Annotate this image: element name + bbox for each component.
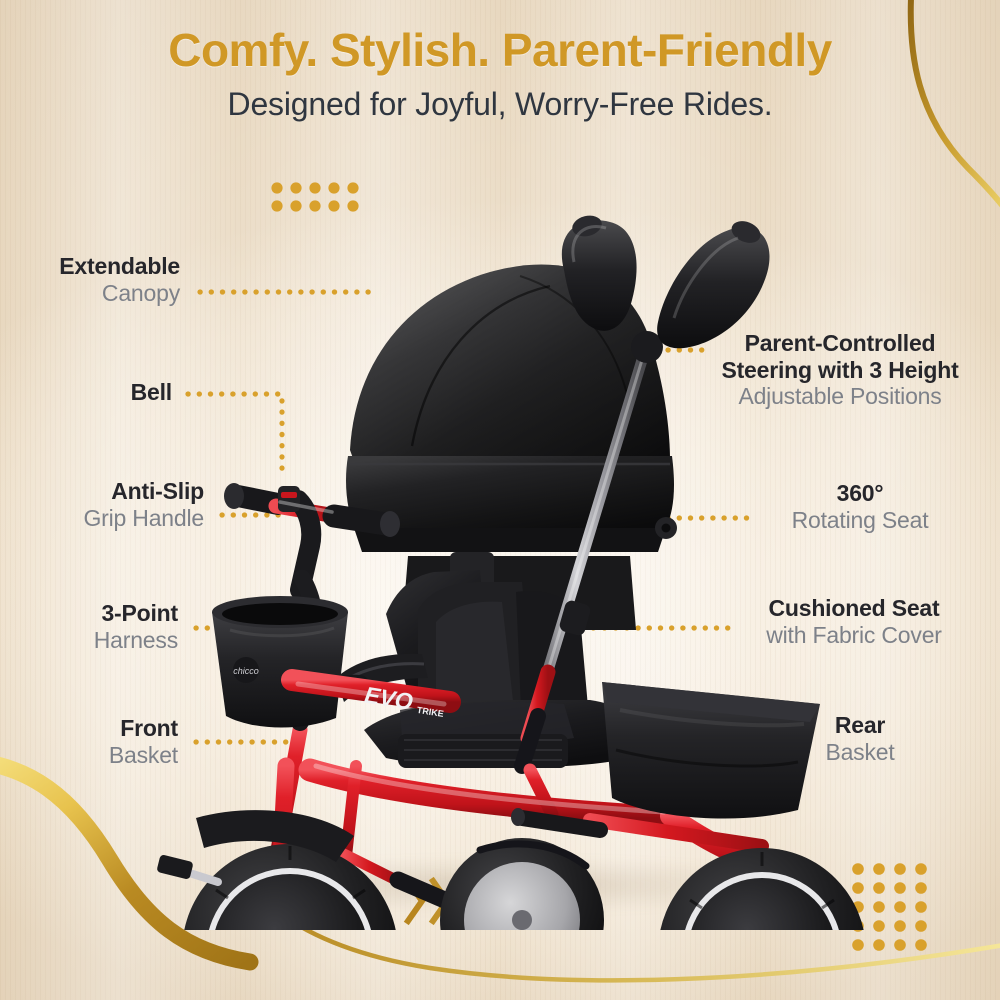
callout-rear-basket-line1: Rear xyxy=(760,712,960,739)
callout-three-point-harness-sub: Harness xyxy=(94,627,178,654)
callout-three-point-harness[interactable]: 3-Point Harness xyxy=(94,600,178,653)
callout-anti-slip-grip-sub: Grip Handle xyxy=(83,505,204,532)
callout-bell-line1: Bell xyxy=(131,379,172,406)
callout-extendable-canopy[interactable]: Extendable Canopy xyxy=(59,253,180,306)
rear-wheel: chicco xyxy=(658,848,866,930)
callout-rear-basket[interactable]: Rear Basket xyxy=(760,712,960,765)
front-basket: chicco xyxy=(212,596,348,728)
callout-extendable-canopy-sub: Canopy xyxy=(59,280,180,307)
seat-assembly xyxy=(336,552,636,768)
callout-anti-slip-grip[interactable]: Anti-Slip Grip Handle xyxy=(83,478,204,531)
product-image-evo-tricycle: chicco EVO TRIKE xyxy=(150,210,870,930)
callout-rear-basket-sub: Basket xyxy=(760,739,960,766)
callout-front-basket[interactable]: Front Basket xyxy=(109,715,178,768)
callout-front-basket-line1: Front xyxy=(109,715,178,742)
svg-text:chicco: chicco xyxy=(233,666,259,676)
callout-parent-steering-line1: Parent-Controlled xyxy=(690,330,990,357)
callout-cushioned-seat[interactable]: Cushioned Seat with Fabric Cover xyxy=(720,595,988,648)
callout-parent-steering[interactable]: Parent-Controlled Steering with 3 Height… xyxy=(690,330,990,410)
middle-wheel xyxy=(440,838,604,930)
page-title: Comfy. Stylish. Parent-Friendly xyxy=(0,26,1000,74)
callout-parent-steering-sub: Adjustable Positions xyxy=(690,383,990,410)
callout-rotating-seat-line1: 360° xyxy=(740,480,980,507)
page-subtitle: Designed for Joyful, Worry-Free Rides. xyxy=(0,86,1000,123)
callout-front-basket-sub: Basket xyxy=(109,742,178,769)
callout-anti-slip-grip-line1: Anti-Slip xyxy=(83,478,204,505)
callout-cushioned-seat-sub: with Fabric Cover xyxy=(720,622,988,649)
callout-cushioned-seat-line1: Cushioned Seat xyxy=(720,595,988,622)
callout-rotating-seat[interactable]: 360° Rotating Seat xyxy=(740,480,980,533)
header: Comfy. Stylish. Parent-Friendly Designed… xyxy=(0,26,1000,123)
callout-extendable-canopy-line1: Extendable xyxy=(59,253,180,280)
callout-bell[interactable]: Bell xyxy=(131,379,172,406)
callout-three-point-harness-line1: 3-Point xyxy=(94,600,178,627)
callout-parent-steering-line2: Steering with 3 Height xyxy=(690,357,990,384)
callout-rotating-seat-sub: Rotating Seat xyxy=(740,507,980,534)
front-wheel: chicco xyxy=(156,810,398,930)
